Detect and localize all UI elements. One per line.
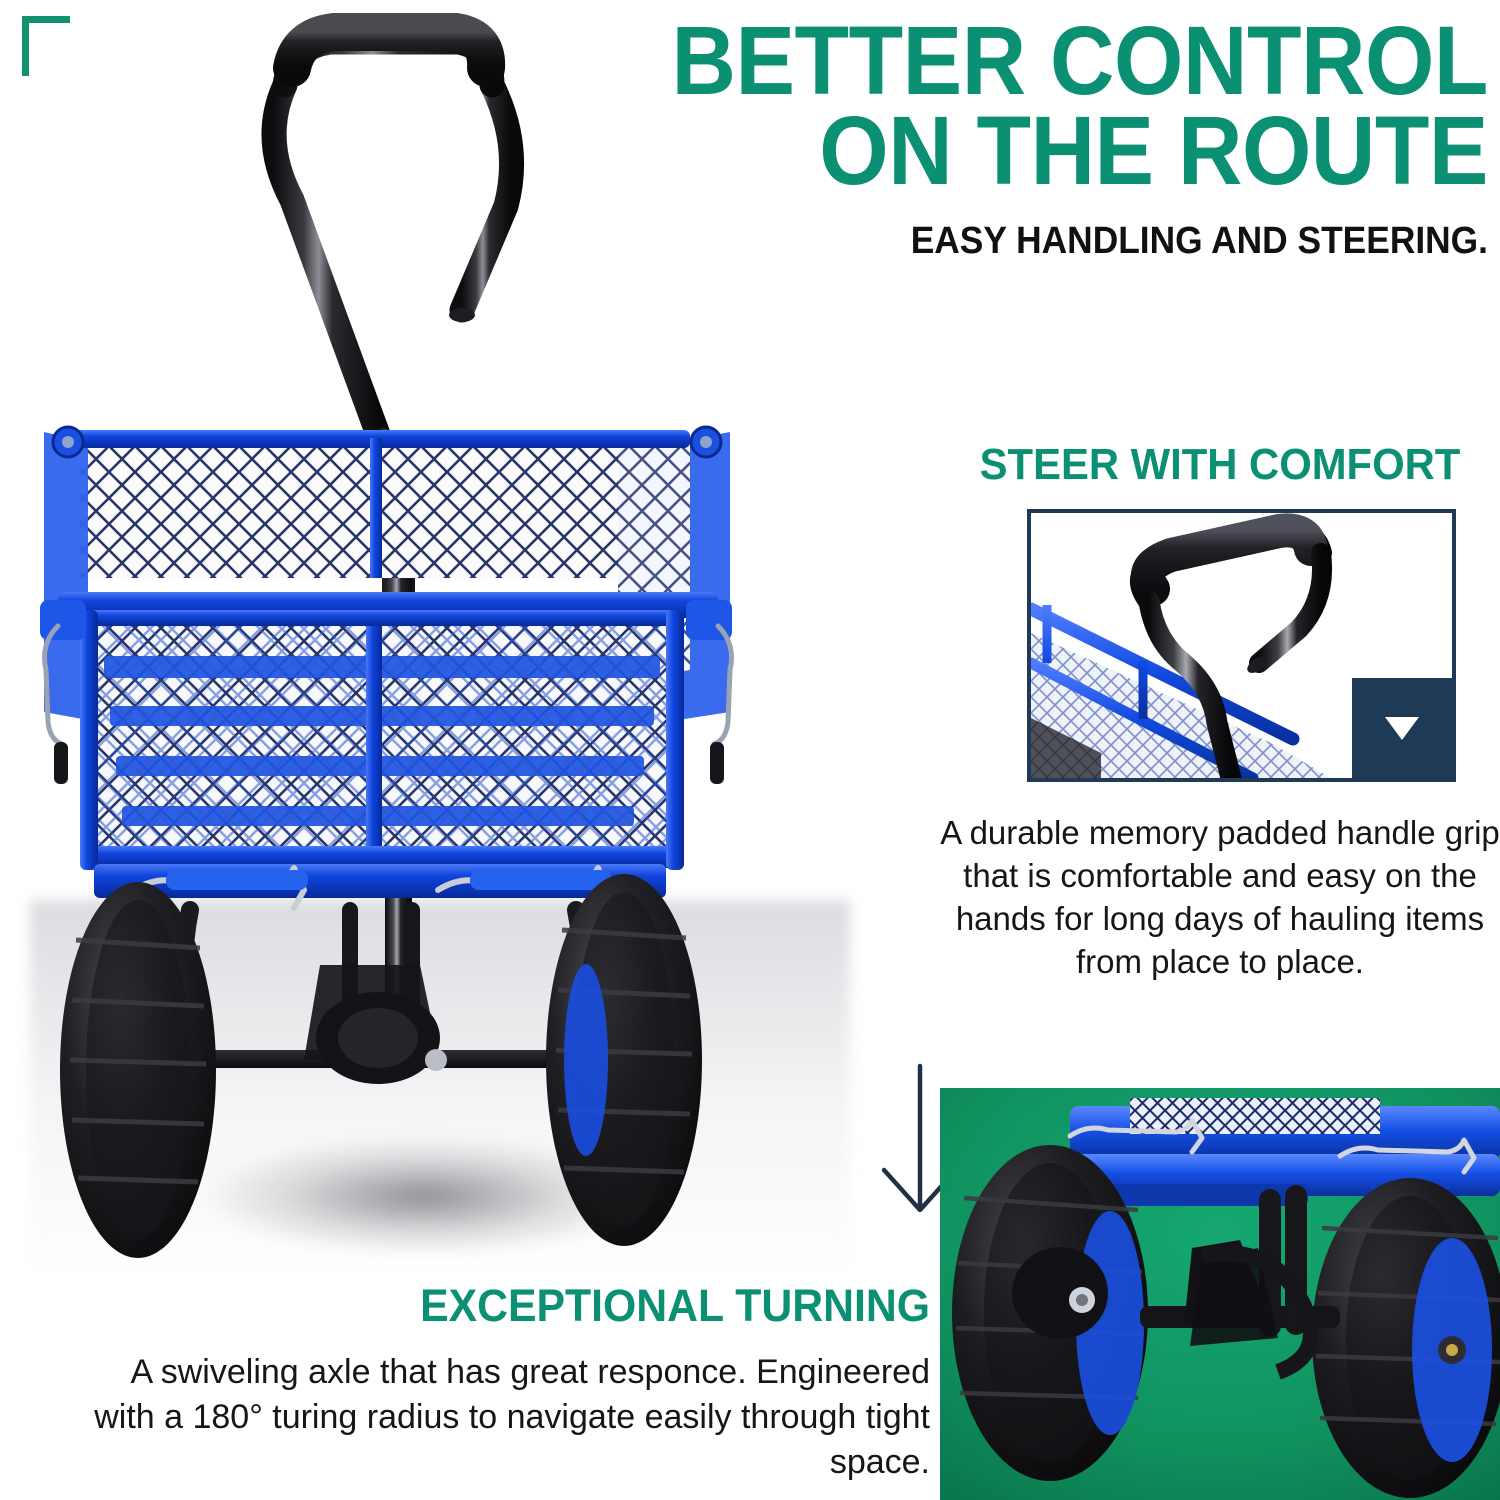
exceptional-turning-section: EXCEPTIONAL TURNING A swiveling axle tha… xyxy=(70,1280,930,1486)
headline-line-2: ON THE ROUTE xyxy=(632,106,1488,196)
turning-section-title: EXCEPTIONAL TURNING xyxy=(113,1280,930,1332)
steer-section-title: STEER WITH COMFORT xyxy=(954,440,1486,490)
turning-section-body: A swiveling axle that has great responce… xyxy=(70,1350,930,1486)
steer-with-comfort-section: STEER WITH COMFORT xyxy=(940,440,1500,490)
wheels-and-axle xyxy=(20,870,740,1270)
headline-subtitle: EASY HANDLING AND STEERING. xyxy=(623,220,1488,263)
headline-block: BETTER CONTROL ON THE ROUTE EASY HANDLIN… xyxy=(558,16,1488,263)
triangle-down-icon xyxy=(1385,717,1419,740)
turning-detail-panel xyxy=(940,1088,1500,1500)
headline-line-1: BETTER CONTROL xyxy=(632,16,1488,106)
infographic-page: BETTER CONTROL ON THE ROUTE EASY HANDLIN… xyxy=(0,0,1500,1500)
cart-body xyxy=(18,420,758,940)
handle-detail-inset xyxy=(1027,509,1456,782)
steer-section-body: A durable memory padded handle grip that… xyxy=(920,812,1500,984)
inset-badge xyxy=(1352,678,1452,778)
